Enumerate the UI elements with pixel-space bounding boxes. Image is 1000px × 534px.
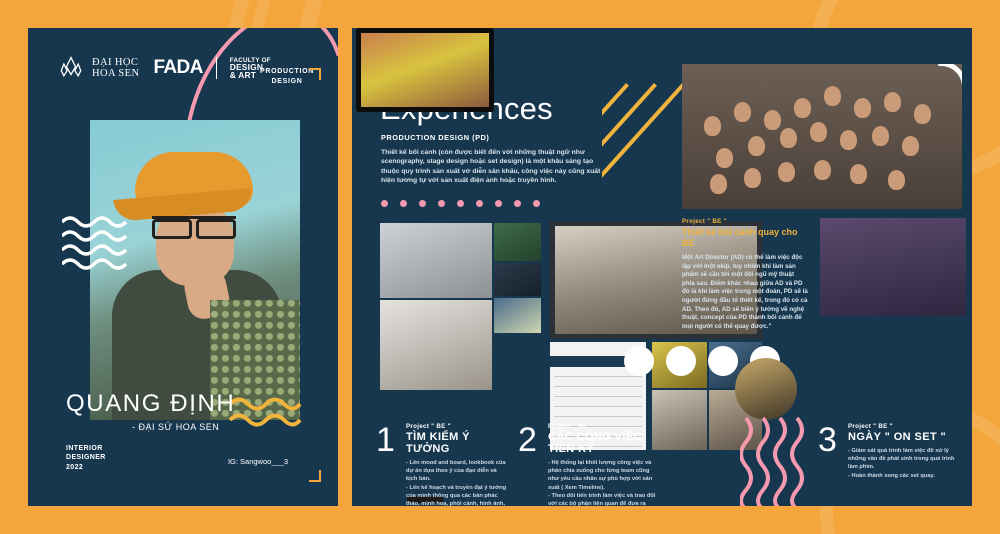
television: [356, 28, 494, 112]
person-meta: INTERIOR DESIGNER 2022: [66, 444, 106, 473]
step-1-text: Project " BE " TÌM KIẾM Ý TƯỞNG - Lên mo…: [406, 423, 508, 506]
corner-bracket-top-right: [309, 68, 321, 80]
pink-squiggle-decoration: [740, 416, 814, 506]
portrait-glasses: [152, 216, 236, 231]
step-3-text: Project " BE " NGÀY " ON SET " - Giám sá…: [848, 423, 958, 480]
circular-behind-scenes-photo: [735, 358, 797, 420]
render-bedroom: [380, 300, 492, 390]
step-2-text: Project " BE " CÁC CÔNG VIỆC TIỀN KỲ - H…: [548, 423, 658, 506]
step-3-project: Project " BE ": [848, 423, 958, 430]
circle: [666, 346, 696, 376]
corner-bracket-bottom-right: [309, 470, 321, 482]
production-design-label: PRODUCTION DESIGN (PD): [381, 133, 489, 142]
dot: [381, 200, 388, 207]
on-set-photo-2: [652, 390, 707, 450]
step-3-title: NGÀY " ON SET ": [848, 431, 958, 443]
ad-title: Thiết kế bối cảnh quay cho BE: [682, 227, 808, 249]
step-3-body: - Giám sát quá trình làm việc để xử lý n…: [848, 447, 958, 480]
university-name: ĐẠI HỌC HOA SEN: [92, 57, 139, 80]
step-1-project: Project " BE ": [406, 423, 508, 430]
step-2-number: 2: [518, 423, 537, 457]
dot: [438, 200, 445, 207]
ad-body: Một Art Director (AD) có thể làm việc độ…: [682, 254, 808, 331]
step-2: 2 Project " BE " CÁC CÔNG VIỆC TIỀN KỲ -…: [518, 423, 658, 506]
art-director-block: Project " BE " Thiết kế bối cảnh quay ch…: [682, 218, 808, 331]
cover-page: ĐẠI HỌC HOA SEN FADA FACULTY OF DESIGN &…: [28, 28, 338, 506]
logo-row: ĐẠI HỌC HOA SEN FADA FACULTY OF DESIGN &…: [58, 55, 271, 81]
step-1-number: 1: [376, 423, 395, 457]
behind-scenes-thumb-1: [494, 223, 541, 261]
team-group-photo: [682, 64, 962, 209]
step-3: 3 Project " BE " NGÀY " ON SET " - Giám …: [818, 423, 958, 480]
celebration-photo: [820, 218, 966, 316]
circle: [624, 346, 654, 376]
step-3-number: 3: [818, 423, 837, 457]
fada-logo: FADA: [153, 57, 202, 79]
production-design-intro: Thiết kế bối cảnh (còn được biết đến với…: [381, 148, 609, 186]
pink-dot-row: [381, 200, 540, 207]
working-experiences-page: Working Experiences PRODUCTION DESIGN (P…: [352, 28, 972, 506]
category-label: PRODUCTION DESIGN: [260, 67, 314, 87]
dot: [419, 200, 426, 207]
dot: [533, 200, 540, 207]
logo-divider: [216, 57, 217, 79]
behind-scenes-thumb-2: [494, 263, 541, 296]
step-1-title: TÌM KIẾM Ý TƯỞNG: [406, 431, 508, 455]
person-name: QUANG ĐỊNH: [66, 390, 235, 418]
dot: [495, 200, 502, 207]
hoa-sen-lotus-icon: [58, 55, 84, 81]
dot: [476, 200, 483, 207]
orange-wave-decoration: [228, 394, 302, 428]
diagonal-stripes-decoration: [602, 83, 694, 208]
step-1: 1 Project " BE " TÌM KIẾM Ý TƯỞNG - Lên …: [376, 423, 508, 506]
dot: [514, 200, 521, 207]
step-2-title: CÁC CÔNG VIỆC TIỀN KỲ: [548, 431, 658, 455]
tv-photo-wrap: [352, 28, 498, 124]
step-1-body: - Lên mood and board, lookbook của dự án…: [406, 459, 508, 506]
step-2-project: Project " BE ": [548, 423, 658, 430]
render-living-room: [380, 223, 492, 298]
instagram-handle: IG: Sangwoo___3: [228, 457, 288, 466]
person-subtitle: - ĐẠI SỨ HOA SEN: [132, 422, 219, 432]
dot: [400, 200, 407, 207]
behind-scenes-thumb-3: [494, 298, 541, 333]
circle: [708, 346, 738, 376]
ad-project-label: Project " BE ": [682, 218, 808, 225]
tv-screen: [361, 33, 489, 107]
white-wave-decoration: [62, 214, 128, 272]
step-2-body: - Hệ thống lại khối lượng công việc và p…: [548, 459, 658, 506]
dot: [457, 200, 464, 207]
